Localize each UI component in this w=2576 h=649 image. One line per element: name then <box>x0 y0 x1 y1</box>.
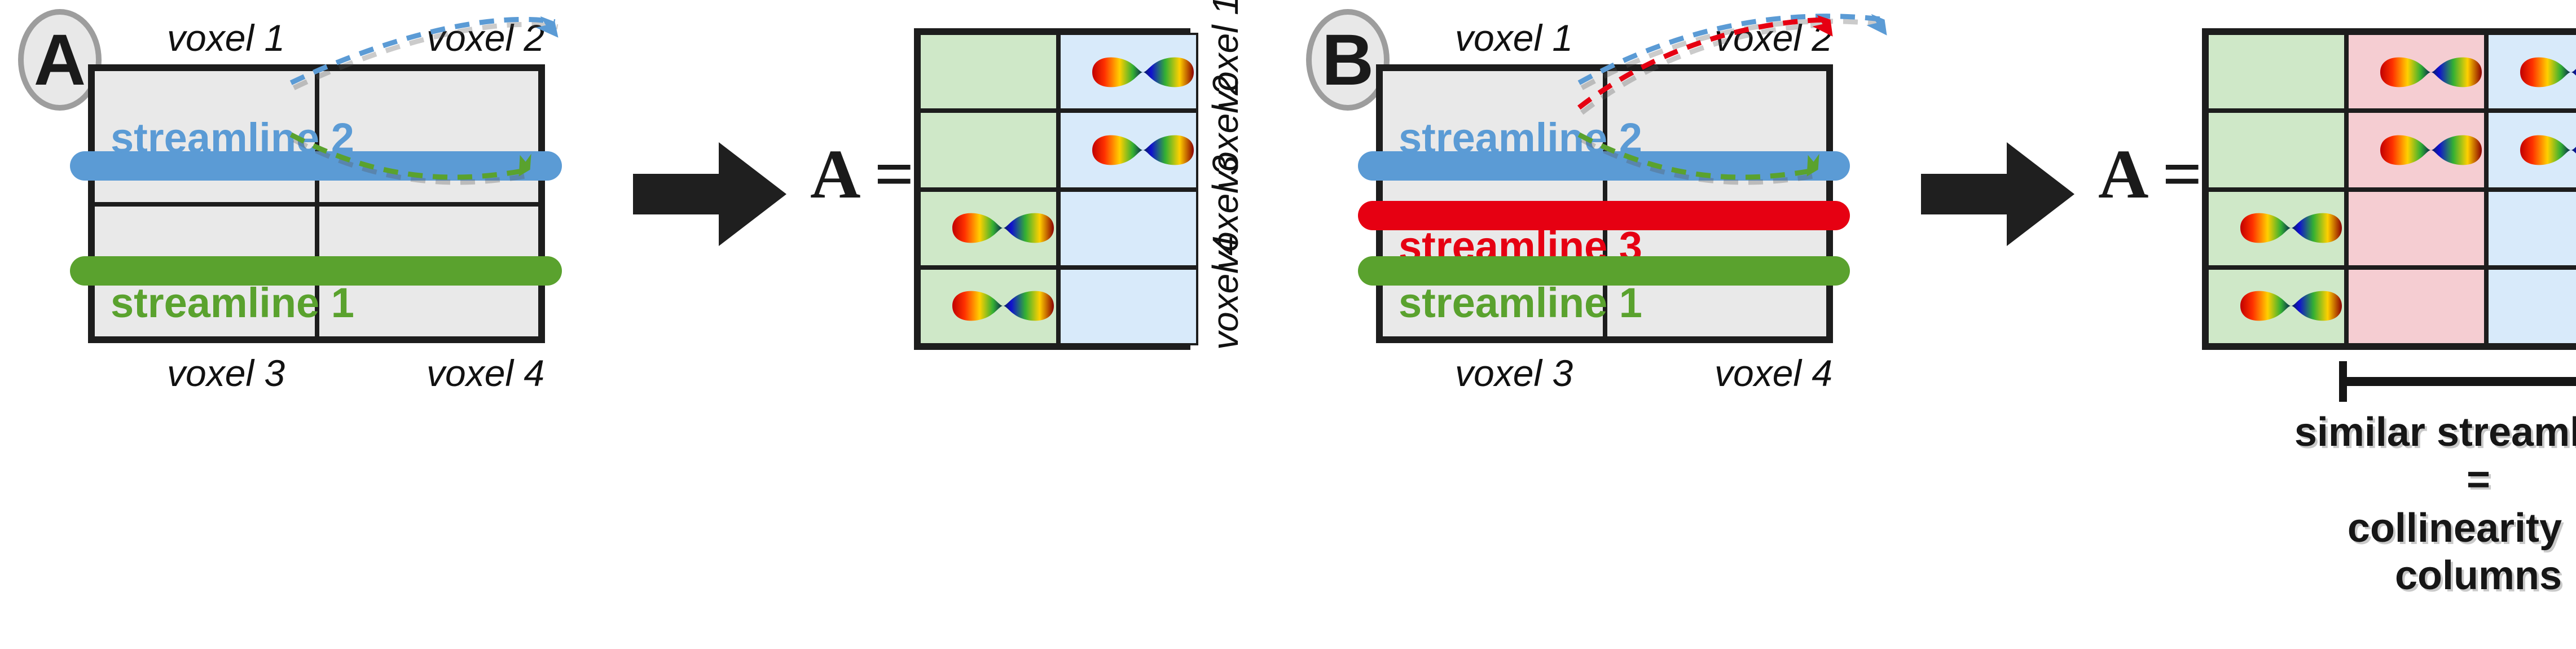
matrix-cell-r4c3 <box>2486 268 2576 346</box>
grid-top-label-voxel-2: voxel 2 <box>427 17 544 60</box>
grid-bottom-label-voxel-4: voxel 4 <box>1715 352 1832 395</box>
fod-glyph-icon <box>2238 205 2344 251</box>
design-matrix-a <box>914 28 1190 350</box>
matrix-cell-r1c3 <box>2486 33 2576 111</box>
fod-glyph-icon <box>2378 49 2484 94</box>
matrix-cell-r4c1 <box>2206 268 2346 346</box>
matrix-cell-r3c2 <box>2346 189 2486 268</box>
fod-glyph-icon <box>2378 128 2484 173</box>
matrix-cell-r4c2 <box>1058 268 1198 346</box>
matrix-equation-label-b: A = <box>2098 135 2202 216</box>
streamline-label-1: streamline 1 <box>1399 280 1642 327</box>
matrix-cell-r1c1 <box>2206 33 2346 111</box>
streamline-label-2: streamline 2 <box>111 115 354 163</box>
fod-glyph-icon <box>2518 128 2576 173</box>
matrix-cell-r3c1 <box>2206 189 2346 268</box>
matrix-cell-r2c3 <box>2486 111 2576 190</box>
matrix-equation-label-a: A = <box>810 135 914 216</box>
fod-glyph-icon <box>950 205 1056 251</box>
fod-glyph-icon <box>950 284 1056 329</box>
matrix-cell-r2c1 <box>2206 111 2346 190</box>
matrix-cell-r2c2 <box>2346 111 2486 190</box>
grid-bottom-label-voxel-3: voxel 3 <box>167 352 285 395</box>
grid-top-label-voxel-1: voxel 1 <box>1455 17 1573 60</box>
design-matrix-b <box>2202 28 2576 350</box>
matrix-cell-r2c2 <box>1058 111 1198 190</box>
transform-arrow-icon <box>1919 138 2077 251</box>
fod-glyph-icon <box>2518 49 2576 94</box>
matrix-cell-r4c1 <box>918 268 1058 346</box>
streamline-label-1: streamline 1 <box>111 280 354 327</box>
matrix-cell-r1c2 <box>2346 33 2486 111</box>
fod-glyph-icon <box>1090 49 1196 94</box>
grid-bottom-label-voxel-3: voxel 3 <box>1455 352 1573 395</box>
matrix-cell-r1c2 <box>1058 33 1198 111</box>
collinear-columns-bracket <box>2337 359 2576 404</box>
matrix-cell-r1c1 <box>918 33 1058 111</box>
collinearity-caption: similar streamlines = collinearity in co… <box>2270 409 2576 600</box>
matrix-cell-r3c1 <box>918 189 1058 268</box>
streamline-label-2: streamline 2 <box>1399 115 1642 163</box>
grid-bottom-label-voxel-4: voxel 4 <box>427 352 544 395</box>
matrix-cell-r3c3 <box>2486 189 2576 268</box>
grid-top-label-voxel-2: voxel 2 <box>1715 17 1832 60</box>
connector-arrowhead-blue <box>1867 14 1887 36</box>
fod-glyph-icon <box>1090 128 1196 173</box>
matrix-cell-r4c2 <box>2346 268 2486 346</box>
matrix-cell-r2c1 <box>918 111 1058 190</box>
transform-arrow-icon <box>631 138 789 251</box>
matrix-row-label-voxel-4: voxel 4 <box>1205 235 1247 350</box>
grid-top-label-voxel-1: voxel 1 <box>167 17 285 60</box>
fod-glyph-icon <box>2238 284 2344 329</box>
matrix-cell-r3c2 <box>1058 189 1198 268</box>
panel-a: A voxel 1 voxel 2 voxel 3 voxel 4 stream… <box>0 0 1287 649</box>
panel-b: B voxel 1 voxel 2 voxel 3 voxel 4 stream… <box>1288 0 2575 649</box>
